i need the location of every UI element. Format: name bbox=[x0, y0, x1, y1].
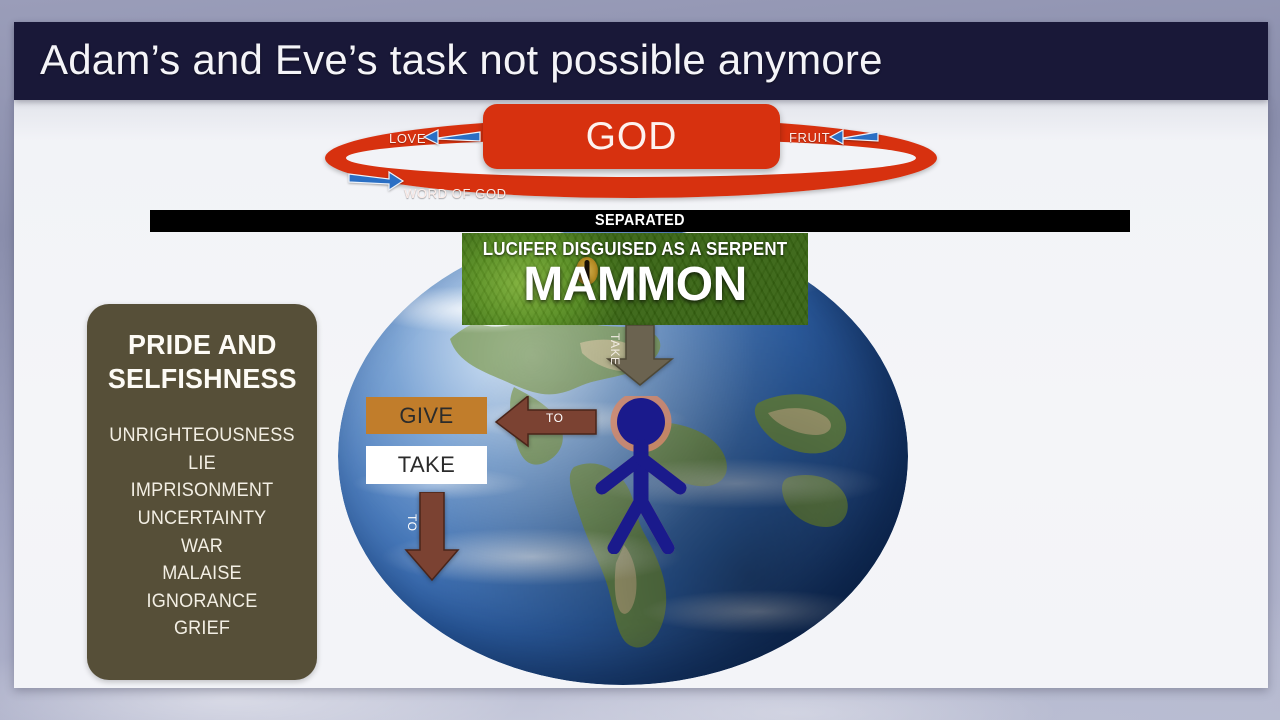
title-bar: Adam’s and Eve’s task not possible anymo… bbox=[14, 22, 1268, 100]
take-box[interactable]: TAKE bbox=[366, 446, 487, 484]
arrow-down-icon-to bbox=[404, 492, 460, 582]
arrow-left-icon-love bbox=[422, 127, 482, 147]
arrow-right-icon-word-of-god bbox=[347, 170, 405, 192]
take-label: TAKE bbox=[398, 452, 455, 478]
mammon-subtitle: LUCIFER DISGUISED AS A SERPENT bbox=[472, 239, 797, 260]
give-box[interactable]: GIVE bbox=[366, 397, 487, 434]
list-item: UNRIGHTEOUSNESS bbox=[93, 422, 312, 450]
list-item: WAR bbox=[93, 533, 312, 561]
separated-divider-bar: SEPARATED bbox=[150, 210, 1130, 232]
list-item: IMPRISONMENT bbox=[93, 477, 312, 505]
ring-label-love: LOVE bbox=[389, 131, 426, 146]
give-label: GIVE bbox=[399, 403, 453, 429]
list-item: UNCERTAINTY bbox=[93, 505, 312, 533]
god-label: GOD bbox=[586, 117, 678, 156]
panel-heading: PRIDE AND SELFISHNESS bbox=[108, 328, 297, 396]
arrow-label-take-top: TAKE bbox=[608, 333, 622, 365]
slide-stage: Adam’s and Eve’s task not possible anymo… bbox=[0, 0, 1280, 720]
arrow-left-icon-fruit bbox=[828, 127, 880, 147]
ring-label-word-of-god: WORD OF GOD bbox=[404, 186, 507, 201]
panel-heading-line-2: SELFISHNESS bbox=[108, 362, 297, 396]
arrow-label-to-down: TO bbox=[405, 514, 419, 531]
panel-heading-line-1: PRIDE AND bbox=[108, 328, 297, 362]
list-item: GRIEF bbox=[93, 615, 312, 643]
list-item: IGNORANCE bbox=[93, 588, 312, 616]
list-item: MALAISE bbox=[93, 560, 312, 588]
arrow-label-to-left: TO bbox=[546, 411, 563, 425]
ring-label-fruit: FRUIT bbox=[789, 130, 830, 145]
panel-item-list: UNRIGHTEOUSNESS LIE IMPRISONMENT UNCERTA… bbox=[87, 422, 317, 642]
mammon-panel: LUCIFER DISGUISED AS A SERPENT MAMMON bbox=[462, 233, 808, 325]
separated-label: SEPARATED bbox=[595, 212, 685, 230]
mammon-title: MAMMON bbox=[462, 259, 808, 312]
pride-selfishness-panel: PRIDE AND SELFISHNESS UNRIGHTEOUSNESS LI… bbox=[87, 304, 317, 680]
page-title: Adam’s and Eve’s task not possible anymo… bbox=[40, 36, 883, 84]
list-item: LIE bbox=[93, 450, 312, 478]
god-box: GOD bbox=[483, 104, 780, 169]
person-figure-icon bbox=[586, 396, 696, 554]
